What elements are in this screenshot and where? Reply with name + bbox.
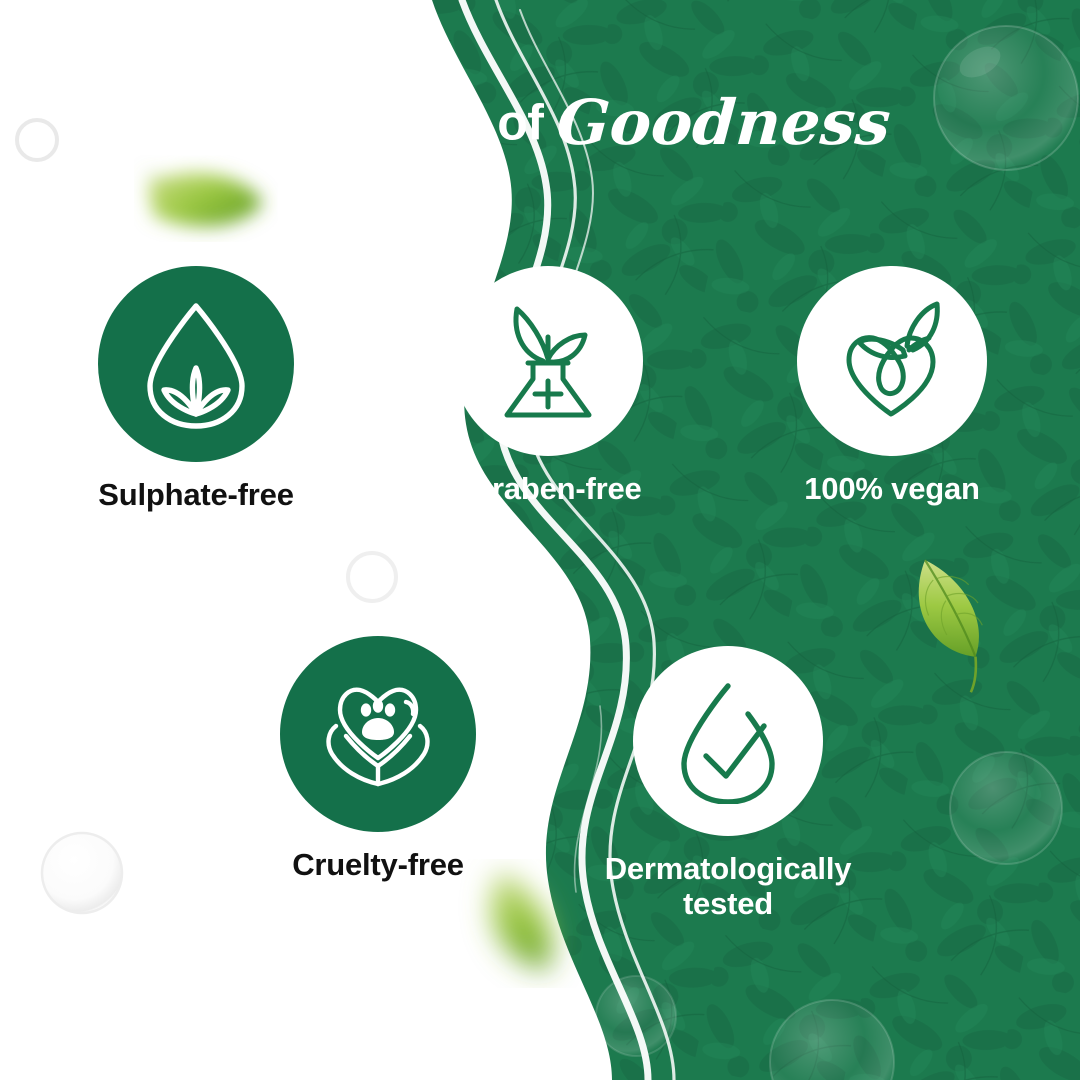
badge-label: Dermatologically tested bbox=[605, 852, 852, 921]
badge-icon-circle bbox=[98, 266, 294, 462]
water-droplet-lotus-icon bbox=[136, 298, 256, 430]
badge-label: 100% vegan bbox=[804, 472, 980, 507]
background-shape-layer bbox=[0, 0, 1080, 1080]
flask-plant-icon bbox=[487, 297, 609, 425]
badge-dermatologically-tested[interactable]: Dermatologically tested bbox=[598, 646, 858, 921]
droplet-checkmark-icon bbox=[670, 678, 786, 804]
badge-label: Paraben-free bbox=[454, 472, 641, 507]
title-plain: The Promise of bbox=[189, 95, 543, 151]
page-title: The Promise ofGoodness bbox=[0, 86, 1080, 159]
badge-icon-circle bbox=[280, 636, 476, 832]
bubble-left-large bbox=[42, 833, 122, 913]
badge-cruelty-free[interactable]: Cruelty-free bbox=[248, 636, 508, 883]
paw-print-icon bbox=[361, 699, 395, 740]
badge-icon-circle bbox=[633, 646, 823, 836]
hands-heart-paw-icon bbox=[314, 674, 442, 794]
badge-label: Cruelty-free bbox=[292, 848, 464, 883]
badge-label: Sulphate-free bbox=[98, 478, 294, 513]
badge-icon-circle bbox=[453, 266, 643, 456]
bubble-mid-left-green bbox=[596, 976, 676, 1056]
bubble-mid-right bbox=[950, 752, 1062, 864]
title-script: Goodness bbox=[555, 86, 893, 159]
badge-sulphate-free[interactable]: Sulphate-free bbox=[66, 266, 326, 513]
badge-vegan[interactable]: 100% vegan bbox=[762, 266, 1022, 507]
badge-paraben-free[interactable]: Paraben-free bbox=[418, 266, 678, 507]
badge-icon-circle bbox=[797, 266, 987, 456]
heart-leaf-sprout-icon bbox=[829, 298, 955, 424]
promise-of-goodness-graphic: The Promise ofGoodness Sulphate-free bbox=[0, 0, 1080, 1080]
